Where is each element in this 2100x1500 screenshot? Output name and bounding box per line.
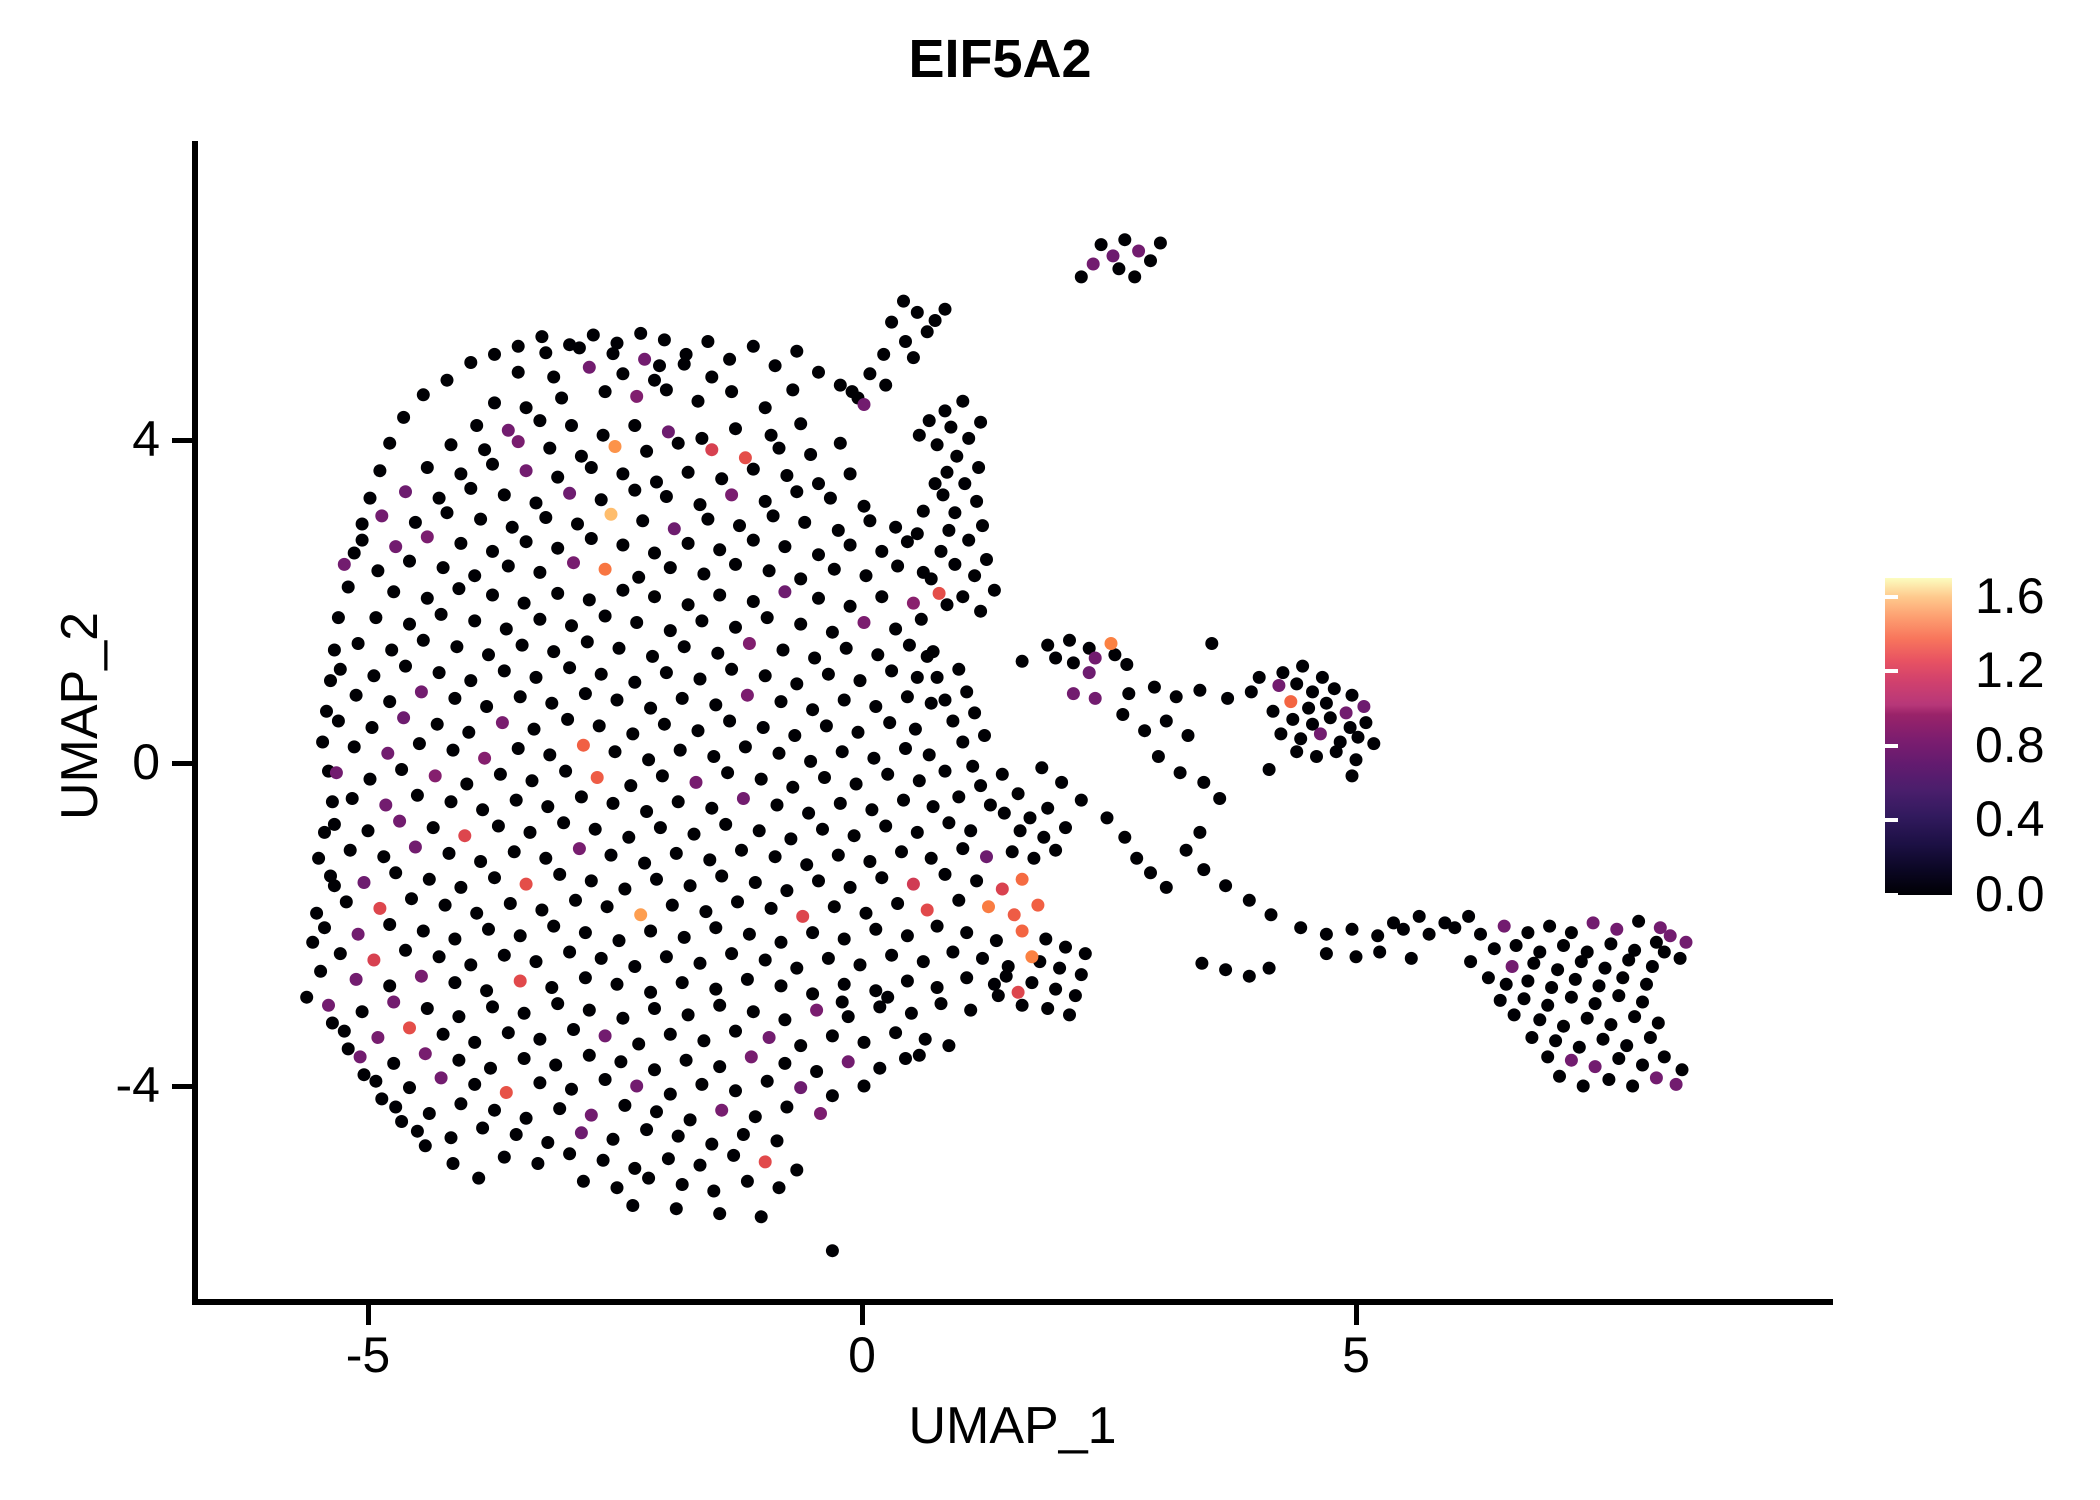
scatter-point [1589, 1060, 1602, 1073]
scatter-point [1037, 831, 1050, 844]
scatter-point [885, 949, 898, 962]
x-tick-label: 0 [782, 1330, 942, 1380]
scatter-point [1067, 656, 1080, 669]
scatter-point [966, 760, 979, 773]
scatter-point [595, 493, 608, 506]
scatter-point [1075, 270, 1088, 283]
scatter-point [1055, 776, 1068, 789]
scatter-point [1272, 679, 1285, 692]
scatter-point [788, 729, 801, 742]
scatter-point [1118, 831, 1131, 844]
scatter-point [411, 1125, 424, 1138]
scatter-point [547, 645, 560, 658]
scatter-point [806, 926, 819, 939]
scatter-point [956, 395, 969, 408]
scatter-point [644, 986, 657, 999]
scatter-point [747, 463, 760, 476]
scatter-point [1138, 724, 1151, 737]
scatter-point [923, 414, 936, 427]
scatter-point [516, 639, 529, 652]
scatter-point [618, 883, 631, 896]
scatter-point [883, 716, 896, 729]
scatter-point [721, 766, 734, 779]
scatter-point [415, 970, 428, 983]
scatter-point [498, 664, 511, 677]
scatter-point [786, 383, 799, 396]
scatter-point [761, 611, 774, 624]
scatter-point [1205, 637, 1218, 650]
scatter-point [1620, 1039, 1633, 1052]
scatter-point [672, 1130, 685, 1143]
scatter-point [729, 1025, 742, 1038]
colorbar-legend[interactable]: 1.61.20.80.40.0 [1885, 578, 2085, 908]
scatter-point [399, 485, 412, 498]
scatter-point [972, 461, 985, 474]
scatter-point [978, 729, 991, 742]
scatter-point [852, 726, 865, 739]
colorbar-tick-label: 0.8 [1975, 720, 2100, 770]
scatter-point [1197, 863, 1210, 876]
scatter-point [628, 484, 641, 497]
scatter-point [773, 442, 786, 455]
scatter-point [737, 1128, 750, 1141]
scatter-point [759, 495, 772, 508]
scatter-point [664, 624, 677, 637]
scatter-point [921, 904, 934, 917]
scatter-point [630, 616, 643, 629]
scatter-point [826, 1244, 839, 1257]
scatter-point [526, 774, 539, 787]
scatter-point [577, 739, 590, 752]
scatter-point [1087, 258, 1100, 271]
scatter-point [701, 513, 714, 526]
scatter-point [583, 1049, 596, 1062]
scatter-point [437, 1028, 450, 1041]
scatter-point [1541, 1050, 1554, 1063]
scatter-point [1320, 928, 1333, 941]
scatter-point [460, 778, 473, 791]
scatter-point [707, 1185, 720, 1198]
scatter-point [1521, 926, 1534, 939]
scatter-point [334, 947, 347, 960]
scatter-point [579, 926, 592, 939]
scatter-point [1118, 233, 1131, 246]
scatter-point [931, 920, 944, 933]
scatter-point [917, 505, 930, 518]
scatter-point [802, 807, 815, 820]
scatter-point [1650, 1071, 1663, 1084]
scatter-point [974, 605, 987, 618]
scatter-point [1438, 916, 1451, 929]
scatter-point [709, 983, 722, 996]
scatter-point [640, 445, 653, 458]
scatter-point [488, 396, 501, 409]
scatter-point [741, 689, 754, 702]
scatter-point [765, 429, 778, 442]
scatter-point [350, 689, 363, 702]
x-axis-title: UMAP_1 [192, 1400, 1833, 1452]
scatter-point [729, 422, 742, 435]
scatter-point [512, 742, 525, 755]
scatter-point [478, 443, 491, 456]
scatter-point [672, 795, 685, 808]
scatter-point [786, 781, 799, 794]
scatter-point [937, 488, 950, 501]
scatter-point [1008, 908, 1021, 921]
scatter-point [387, 1057, 400, 1070]
scatter-point [1069, 989, 1082, 1002]
scatter-point [879, 820, 892, 833]
scatter-point [1506, 960, 1519, 973]
scatter-point [842, 1055, 855, 1068]
scatter-point [352, 928, 365, 941]
scatter-point [535, 330, 548, 343]
scatter-point [682, 598, 695, 611]
scatter-point [729, 1084, 742, 1097]
scatter-point [775, 695, 788, 708]
scatter-plot-panel[interactable] [195, 141, 1833, 1299]
scatter-point [1387, 916, 1400, 929]
scatter-point [1306, 685, 1319, 698]
scatter-point [569, 894, 582, 907]
scatter-point [545, 981, 558, 994]
colorbar-tick-label: 1.6 [1975, 571, 2100, 621]
scatter-point [1195, 957, 1208, 970]
scatter-point [518, 597, 531, 610]
scatter-point [885, 316, 898, 329]
scatter-point [587, 329, 600, 342]
scatter-point [1652, 1017, 1665, 1030]
scatter-point [680, 348, 693, 361]
scatter-point [844, 539, 857, 552]
scatter-point [611, 694, 624, 707]
scatter-point [549, 1059, 562, 1072]
scatter-point [988, 584, 1001, 597]
scatter-point [749, 876, 762, 889]
scatter-point [759, 954, 772, 967]
scatter-point [743, 637, 756, 650]
scatter-point [767, 509, 780, 522]
scatter-point [383, 437, 396, 450]
scatter-point [826, 1029, 839, 1042]
scatter-point [640, 805, 653, 818]
scatter-point [421, 530, 434, 543]
scatter-point [1545, 981, 1558, 994]
scatter-point [970, 495, 983, 508]
scatter-point [1670, 1078, 1683, 1091]
scatter-point [990, 934, 1003, 947]
scatter-point [664, 1088, 677, 1101]
scatter-point [925, 697, 938, 710]
scatter-point [763, 564, 776, 577]
scatter-point [812, 548, 825, 561]
scatter-point [970, 874, 983, 887]
scatter-point [577, 1175, 590, 1188]
scatter-point [778, 1057, 791, 1070]
scatter-point [682, 537, 695, 550]
scatter-point [348, 740, 361, 753]
scatter-point [452, 1054, 465, 1067]
scatter-point [713, 999, 726, 1012]
scatter-point [881, 991, 894, 1004]
scatter-point [1213, 792, 1226, 805]
scatter-point [790, 962, 803, 975]
scatter-point [484, 1062, 497, 1075]
scatter-point [494, 768, 507, 781]
scatter-point [1296, 660, 1309, 673]
x-tick-mark [860, 1305, 865, 1325]
scatter-point [371, 1031, 384, 1044]
scatter-point [1597, 1033, 1610, 1046]
scatter-point [530, 497, 543, 510]
scatter-point [468, 569, 481, 582]
scatter-point [395, 1115, 408, 1128]
scatter-point [1553, 1070, 1566, 1083]
scatter-point [1498, 920, 1511, 933]
scatter-point [1346, 769, 1359, 782]
scatter-point [348, 547, 361, 560]
scatter-point [832, 849, 845, 862]
scatter-point [824, 492, 837, 505]
scatter-point [911, 671, 924, 684]
scatter-point [530, 955, 543, 968]
scatter-point [828, 563, 841, 576]
scatter-point [338, 558, 351, 571]
scatter-point [470, 907, 483, 920]
scatter-point [662, 425, 675, 438]
scatter-point [539, 852, 552, 865]
scatter-point [448, 933, 461, 946]
scatter-point [713, 1060, 726, 1073]
scatter-point [326, 1017, 339, 1030]
scatter-point [356, 1005, 369, 1018]
scatter-point [812, 592, 825, 605]
scatter-point [952, 894, 965, 907]
scatter-point [1494, 994, 1507, 1007]
scatter-point [575, 790, 588, 803]
scatter-point [1314, 727, 1327, 740]
scatter-point [508, 845, 521, 858]
scatter-point [694, 1159, 707, 1172]
scatter-point [984, 799, 997, 812]
scatter-point [1263, 763, 1276, 776]
scatter-point [948, 506, 961, 519]
scatter-point [563, 338, 576, 351]
scatter-point [1079, 947, 1092, 960]
scatter-point [942, 524, 955, 537]
scatter-point [676, 1178, 689, 1191]
scatter-point [502, 560, 515, 573]
scatter-point [745, 1050, 758, 1063]
scatter-point [992, 989, 1005, 1002]
scatter-point [909, 723, 922, 736]
scatter-point [375, 509, 388, 522]
scatter-point [417, 925, 430, 938]
scatter-point [875, 871, 888, 884]
scatter-point [725, 385, 738, 398]
scatter-point [520, 878, 533, 891]
scatter-point [599, 385, 612, 398]
scatter-point [747, 534, 760, 547]
scatter-point [743, 928, 756, 941]
scatter-point [389, 540, 402, 553]
scatter-point [929, 314, 942, 327]
scatter-point [551, 587, 564, 600]
scatter-point [496, 716, 509, 729]
scatter-point [713, 589, 726, 602]
scatter-point [445, 795, 458, 808]
scatter-point [960, 685, 973, 698]
scatter-point [306, 936, 319, 949]
scatter-point [988, 978, 1001, 991]
scatter-point [753, 824, 766, 837]
scatter-point [607, 797, 620, 810]
scatter-point [518, 1052, 531, 1065]
scatter-point [1059, 821, 1072, 834]
scatter-point [448, 976, 461, 989]
scatter-point [806, 987, 819, 1000]
scatter-point [520, 401, 533, 414]
scatter-point [1626, 1080, 1639, 1093]
scatter-point [383, 979, 396, 992]
scatter-point [618, 1099, 631, 1112]
scatter-point [435, 1071, 448, 1084]
scatter-point [387, 996, 400, 1009]
scatter-point [563, 661, 576, 674]
scatter-point [452, 582, 465, 595]
scatter-point [316, 736, 329, 749]
scatter-point [383, 695, 396, 708]
scatter-point [939, 694, 952, 707]
scatter-point [597, 429, 610, 442]
scatter-point [1405, 952, 1418, 965]
scatter-point [749, 1110, 762, 1123]
scatter-point [358, 876, 371, 889]
scatter-point [1676, 1063, 1689, 1076]
scatter-point [1016, 873, 1029, 886]
scatter-point [579, 971, 592, 984]
scatter-point [834, 437, 847, 450]
scatter-point [775, 979, 788, 992]
scatter-point [869, 700, 882, 713]
scatter-point [626, 727, 639, 740]
scatter-point [1286, 713, 1299, 726]
scatter-point [314, 965, 327, 978]
scatter-point [658, 718, 671, 731]
scatter-point [705, 371, 718, 384]
scatter-point [820, 719, 833, 732]
scatter-point [356, 518, 369, 531]
scatter-point [1075, 968, 1088, 981]
scatter-point [1294, 921, 1307, 934]
scatter-point [1128, 270, 1141, 283]
scatter-point [312, 852, 325, 865]
scatter-point [968, 569, 981, 582]
scatter-point [741, 973, 754, 986]
scatter-point [1549, 1034, 1562, 1047]
scatter-point [354, 1050, 367, 1063]
scatter-point [715, 1104, 728, 1117]
scatter-point [1000, 970, 1013, 983]
scatter-point [601, 900, 614, 913]
scatter-point [747, 595, 760, 608]
scatter-point [421, 1002, 434, 1015]
scatter-point [759, 1155, 772, 1168]
scatter-point [891, 560, 904, 573]
scatter-point [427, 821, 440, 834]
scatter-point [780, 1101, 793, 1114]
scatter-point [858, 398, 871, 411]
scatter-point [539, 511, 552, 524]
scatter-point [498, 1151, 511, 1164]
scatter-point [611, 1181, 624, 1194]
scatter-point [498, 949, 511, 962]
colorbar-tick-mark [1885, 818, 1898, 822]
scatter-point [1290, 677, 1303, 690]
scatter-point [956, 736, 969, 749]
scatter-point [1160, 715, 1173, 728]
scatter-point [1180, 844, 1193, 857]
scatter-point [547, 371, 560, 384]
scatter-point [1253, 671, 1266, 684]
scatter-point [510, 794, 523, 807]
scatter-point [443, 847, 456, 860]
scatter-point [431, 718, 444, 731]
scatter-point [755, 773, 768, 786]
scatter-point [571, 518, 584, 531]
scatter-point [899, 742, 912, 755]
scatter-point [480, 700, 493, 713]
scatter-point [747, 1005, 760, 1018]
scatter-point [1310, 750, 1323, 763]
scatter-point [628, 1162, 641, 1175]
scatter-point [658, 333, 671, 346]
scatter-point [1330, 745, 1343, 758]
scatter-point [775, 936, 788, 949]
scatter-point [1488, 942, 1501, 955]
scatter-point [1632, 915, 1645, 928]
scatter-point [450, 640, 463, 653]
scatter-point [514, 975, 527, 988]
scatter-point [551, 471, 564, 484]
scatter-point [850, 778, 863, 791]
scatter-point [838, 694, 851, 707]
scatter-point [616, 584, 629, 597]
scatter-point [377, 850, 390, 863]
scatter-point [399, 944, 412, 957]
scatter-point [804, 448, 817, 461]
scatter-point [565, 619, 578, 632]
scatter-point [838, 978, 851, 991]
scatter-point [1371, 929, 1384, 942]
scatter-point [812, 477, 825, 490]
scatter-point [642, 753, 655, 766]
scatter-point [1112, 262, 1125, 275]
scatter-point [773, 1181, 786, 1194]
x-axis-line [192, 1299, 1833, 1305]
scatter-point [464, 482, 477, 495]
scatter-point [739, 740, 752, 753]
scatter-point [1346, 689, 1359, 702]
scatter-point [684, 879, 697, 892]
scatter-point [318, 921, 331, 934]
scatter-point [1658, 1050, 1671, 1063]
scatter-point [761, 1075, 774, 1088]
scatter-point [765, 902, 778, 915]
scatter-point [393, 815, 406, 828]
scatter-point [974, 416, 987, 429]
scatter-point [836, 996, 849, 1009]
